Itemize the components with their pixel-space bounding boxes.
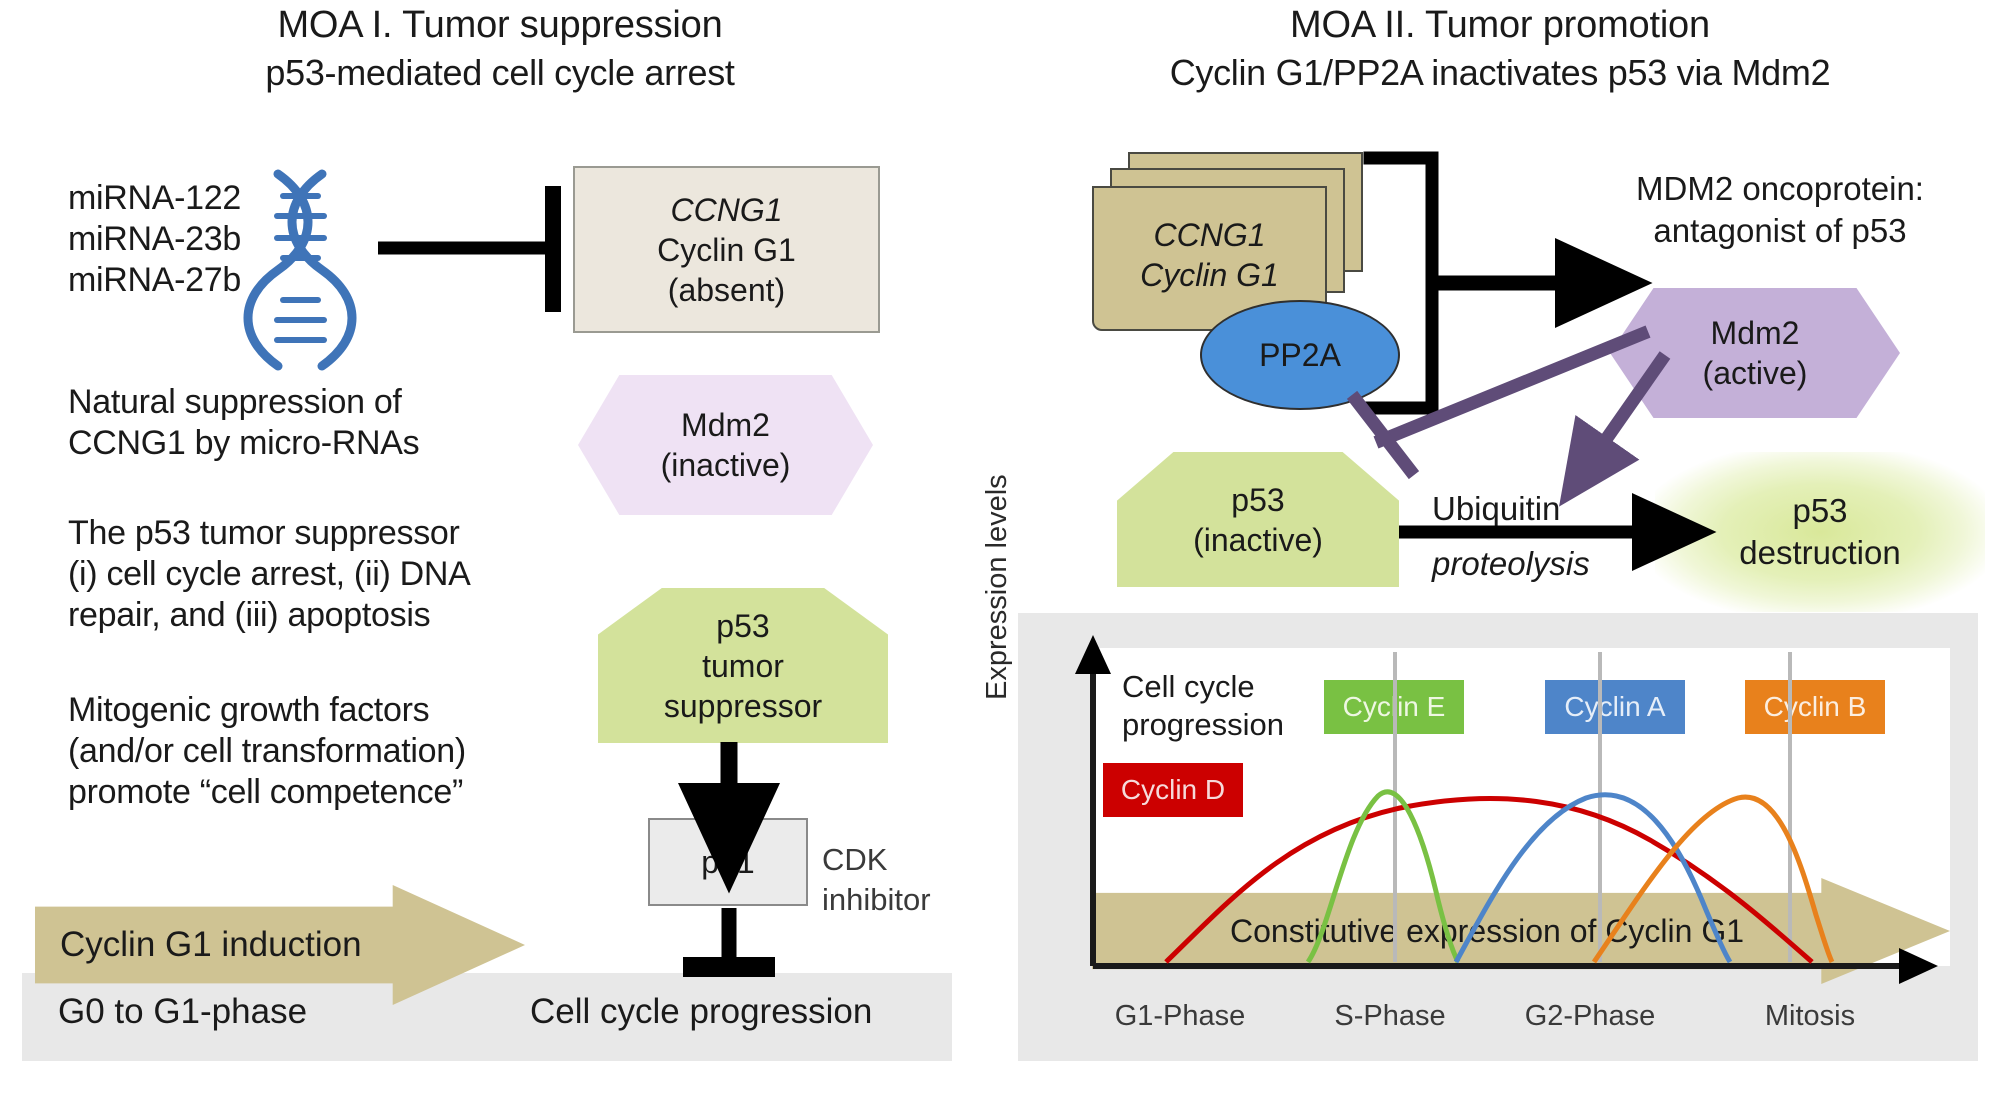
destruction-line-2: destruction xyxy=(1655,532,1985,574)
ccng1-gene-label: CCNG1 xyxy=(670,190,782,230)
legend-chip-cyclin-e: Cyclin E xyxy=(1324,680,1464,734)
p53-name: p53 xyxy=(716,606,769,646)
cdk-line-1: CDK xyxy=(822,840,931,880)
cdk-line-2: inhibitor xyxy=(822,880,931,920)
chart-xtick-mitosis: Mitosis xyxy=(1720,1000,1900,1033)
mdm2-inactive-hexagon: Mdm2 (inactive) xyxy=(578,375,873,515)
panel-right-subtitle: Cyclin G1/PP2A inactivates p53 via Mdm2 xyxy=(1020,52,1980,94)
para-line: promote “cell competence” xyxy=(68,772,568,813)
panel-left-subtitle: p53-mediated cell cycle arrest xyxy=(60,52,940,94)
p53-suppressor-shape: p53 tumor suppressor xyxy=(598,588,888,743)
legend-chip-cyclin-d: Cyclin D xyxy=(1103,763,1243,817)
chart-annotation-line-1: Cell cycle xyxy=(1122,668,1284,706)
ccng1-protein-label: Cyclin G1 xyxy=(657,230,796,270)
para-line: Mitogenic growth factors xyxy=(68,690,568,731)
para-line: Natural suppression of xyxy=(68,382,548,423)
paragraph-mirna-suppression: Natural suppression of CCNG1 by micro-RN… xyxy=(68,382,548,464)
mdm2-active-state: (active) xyxy=(1703,353,1808,393)
mdm2-inactive-state: (inactive) xyxy=(661,445,791,485)
legend-chip-cyclin-b: Cyclin B xyxy=(1745,680,1885,734)
chart-xtick-g2: G2-Phase xyxy=(1500,1000,1680,1033)
destruction-line-1: p53 xyxy=(1655,490,1985,532)
para-line: CCNG1 by micro-RNAs xyxy=(68,423,548,464)
mdm2-active-hexagon: Mdm2 (active) xyxy=(1610,288,1900,418)
band-label-cell-cycle-progression: Cell cycle progression xyxy=(530,992,872,1032)
mirna-list: miRNA-122 miRNA-23b miRNA-27b xyxy=(68,178,241,301)
ccng1-absent-box: CCNG1 Cyclin G1 (absent) xyxy=(573,166,880,333)
p53-destruction-label: p53 destruction xyxy=(1655,490,1985,574)
chart-xtick-s: S-Phase xyxy=(1300,1000,1480,1033)
chart-annotation-line-2: progression xyxy=(1122,706,1284,744)
paragraph-p53-functions: The p53 tumor suppressor (i) cell cycle … xyxy=(68,513,568,636)
constitutive-expression-label: Constitutive expression of Cyclin G1 xyxy=(1092,913,1882,950)
p53-inactive-shape: p53 (inactive) xyxy=(1117,452,1399,587)
dna-helix-icon xyxy=(248,174,352,366)
pp2a-label: PP2A xyxy=(1259,335,1341,375)
cdk-inhibitor-note: CDK inhibitor xyxy=(822,840,931,920)
para-line: (and/or cell transformation) xyxy=(68,731,568,772)
p53-role-2: suppressor xyxy=(664,686,822,726)
chart-xtick-g1: G1-Phase xyxy=(1090,1000,1270,1033)
p21-box: p21 xyxy=(648,818,808,906)
p53-role-1: tumor xyxy=(702,646,784,686)
mirna-item: miRNA-23b xyxy=(68,219,241,260)
para-line: The p53 tumor suppressor xyxy=(68,513,568,554)
mirna-item: miRNA-27b xyxy=(68,260,241,301)
cyclin-g1-induction-label: Cyclin G1 induction xyxy=(60,925,362,965)
legend-label-cyclin-a: Cyclin A xyxy=(1564,691,1665,723)
chart-y-axis-label: Expression levels xyxy=(981,440,1014,700)
band-label-g0-g1: G0 to G1-phase xyxy=(58,992,307,1032)
p53-inactive-state: (inactive) xyxy=(1193,520,1323,560)
proteolysis-label: proteolysis xyxy=(1432,545,1590,583)
panel-left-title: MOA I. Tumor suppression xyxy=(60,4,940,47)
legend-label-cyclin-e: Cyclin E xyxy=(1343,691,1446,723)
ccng1-state-label: (absent) xyxy=(668,270,785,310)
mdm2-active-name: Mdm2 xyxy=(1711,313,1800,353)
paragraph-mitogenic-factors: Mitogenic growth factors (and/or cell tr… xyxy=(68,690,568,813)
para-line: repair, and (iii) apoptosis xyxy=(68,595,568,636)
ubiquitin-label: Ubiquitin xyxy=(1432,490,1560,528)
mirna-item: miRNA-122 xyxy=(68,178,241,219)
mirna-inhibition-connector xyxy=(378,186,553,312)
chart-annotation: Cell cycle progression xyxy=(1122,668,1284,744)
p21-inhibition-connector xyxy=(683,908,775,967)
legend-chip-cyclin-a: Cyclin A xyxy=(1545,680,1685,734)
legend-label-cyclin-d: Cyclin D xyxy=(1121,774,1225,806)
para-line: (i) cell cycle arrest, (ii) DNA xyxy=(68,554,568,595)
ccng1-stack-gene: CCNG1 xyxy=(1153,215,1265,255)
p53-inactive-name: p53 xyxy=(1231,480,1284,520)
p21-label: p21 xyxy=(701,842,754,882)
mdm2-note-line-1: MDM2 oncoprotein: xyxy=(1580,168,1980,210)
legend-label-cyclin-b: Cyclin B xyxy=(1764,691,1867,723)
pp2a-ellipse: PP2A xyxy=(1200,300,1400,410)
panel-right-title: MOA II. Tumor promotion xyxy=(1040,4,1960,47)
mdm2-inactive-name: Mdm2 xyxy=(681,405,770,445)
mdm2-note-line-2: antagonist of p53 xyxy=(1580,210,1980,252)
ccng1-stack-protein: Cyclin G1 xyxy=(1140,255,1279,295)
mdm2-oncoprotein-note: MDM2 oncoprotein: antagonist of p53 xyxy=(1580,168,1980,252)
